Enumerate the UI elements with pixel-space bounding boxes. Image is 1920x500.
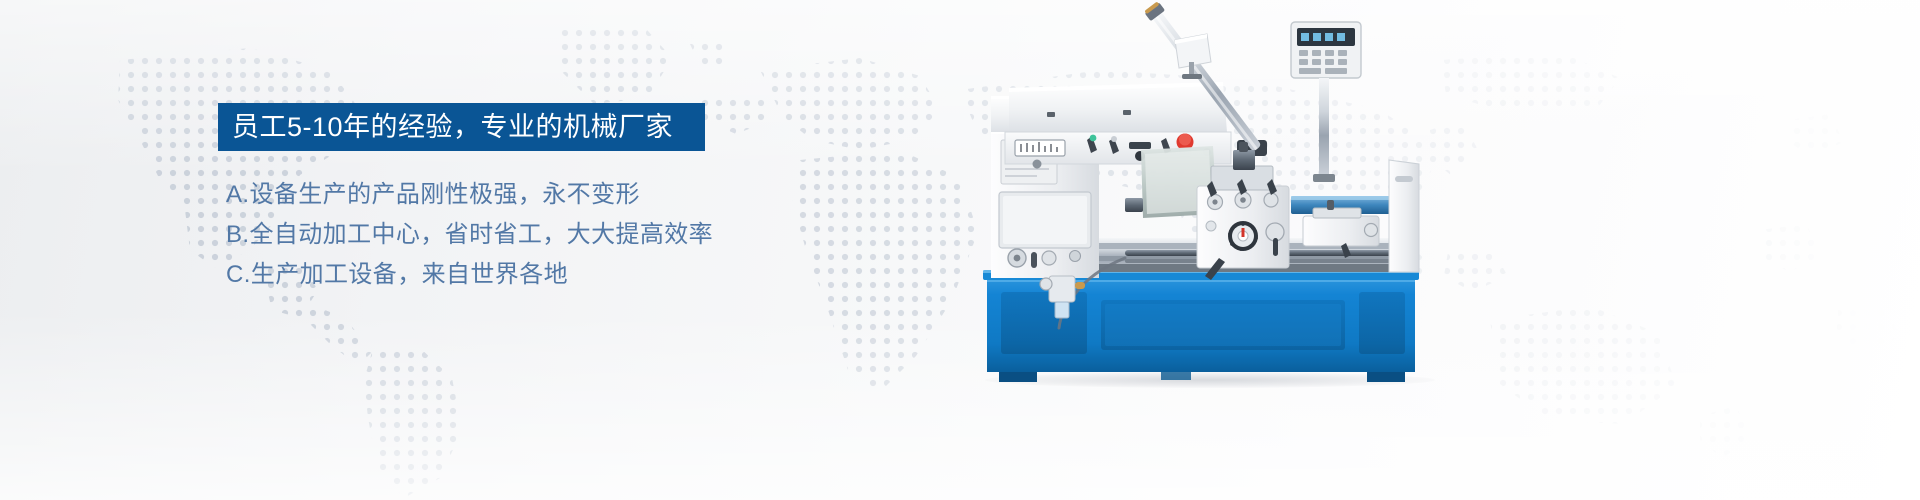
list-item: A.设备生产的产品刚性极强，永不变形 [226, 175, 713, 215]
list-item: B.全自动加工中心，省时省工，大大提高效率 [226, 215, 713, 255]
list-item: C.生产加工设备，来自世界各地 [226, 255, 713, 295]
lathe-machine-image [975, 0, 1445, 390]
index-dial [1228, 221, 1258, 251]
digital-readout-display [1291, 22, 1361, 182]
feature-list: A.设备生产的产品刚性极强，永不变形 B.全自动加工中心，省时省工，大大提高效率… [218, 175, 713, 295]
spindle-stock-rod [1125, 198, 1143, 212]
right-side-panel [1389, 160, 1419, 272]
promo-text-block: 员工5-10年的经验，专业的机械厂家 A.设备生产的产品刚性极强，永不变形 B.… [218, 103, 713, 295]
upper-cabinet [1009, 82, 1227, 132]
banner-stage: 员工5-10年的经验，专业的机械厂家 A.设备生产的产品刚性极强，永不变形 B.… [0, 0, 1920, 500]
headline-banner: 员工5-10年的经验，专业的机械厂家 [218, 103, 705, 151]
air-filter-regulator [1117, 282, 1131, 288]
headline-text: 员工5-10年的经验，专业的机械厂家 [232, 114, 673, 141]
